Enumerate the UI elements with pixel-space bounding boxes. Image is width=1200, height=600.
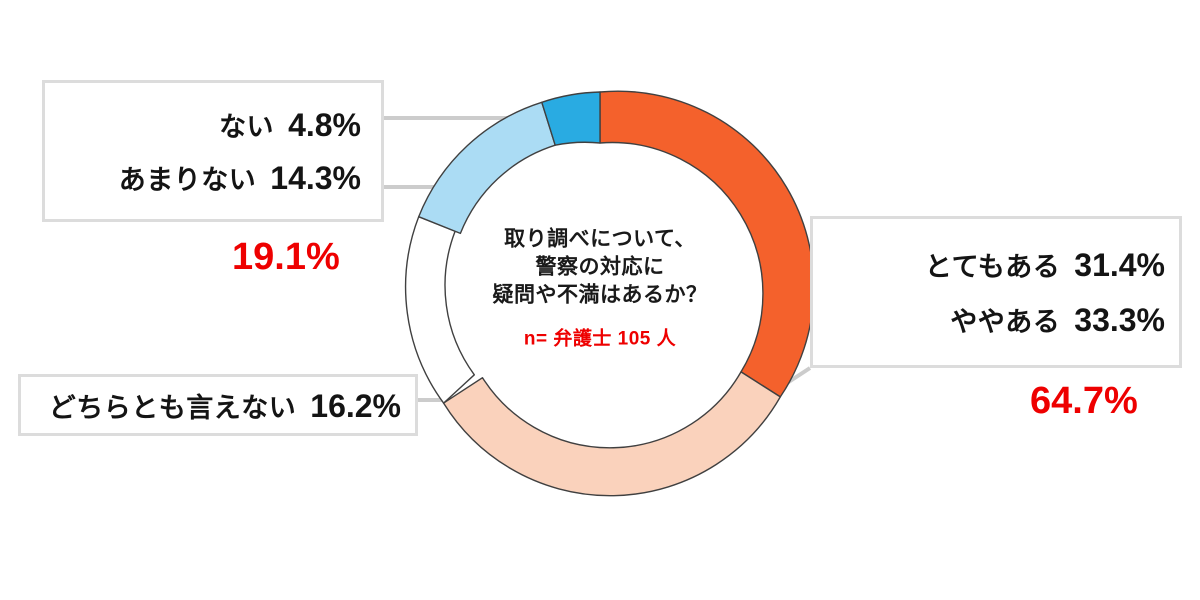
callout-row-dochiratomo-ienai: どちらとも言えない 16.2%	[35, 386, 401, 425]
callout-value-amari-nai: 14.3%	[270, 160, 361, 197]
segment-amari-nai[interactable]	[419, 102, 556, 233]
callout-label-amari-nai: あまりない	[119, 158, 257, 197]
callout-label-dochiratomo-ienai: どちらとも言えない	[49, 386, 297, 425]
callout-label-totemo-aru: とてもある	[925, 245, 1060, 284]
callout-value-totemo-aru: 31.4%	[1074, 247, 1165, 284]
segment-yaya-aru[interactable]	[444, 372, 781, 496]
callout-neutral: どちらとも言えない 16.2%	[18, 374, 418, 436]
callout-row-totemo-aru: とてもある 31.4%	[829, 245, 1165, 284]
donut-segments	[406, 91, 814, 496]
total-negative: 19.1%	[232, 236, 340, 279]
callout-row-yaya-aru: ややある 33.3%	[829, 300, 1165, 339]
callout-label-yaya-aru: ややある	[950, 300, 1060, 339]
callout-row-nai: ない 4.8%	[61, 105, 361, 144]
total-positive: 64.7%	[1030, 380, 1138, 423]
segment-totemo-aru[interactable]	[600, 91, 814, 397]
callout-value-yaya-aru: 33.3%	[1074, 302, 1165, 339]
callout-label-nai: ない	[219, 105, 274, 144]
chart-canvas: 取り調べについて、 警察の対応に 疑問や不満はあるか？ n= 弁護士 105 人…	[0, 0, 1200, 600]
callout-negative: ない 4.8% あまりない 14.3%	[42, 80, 384, 222]
callout-value-nai: 4.8%	[288, 107, 361, 144]
callout-positive: とてもある 31.4% ややある 33.3%	[810, 216, 1182, 368]
callout-row-amari-nai: あまりない 14.3%	[61, 158, 361, 197]
callout-value-dochiratomo-ienai: 16.2%	[310, 388, 401, 425]
